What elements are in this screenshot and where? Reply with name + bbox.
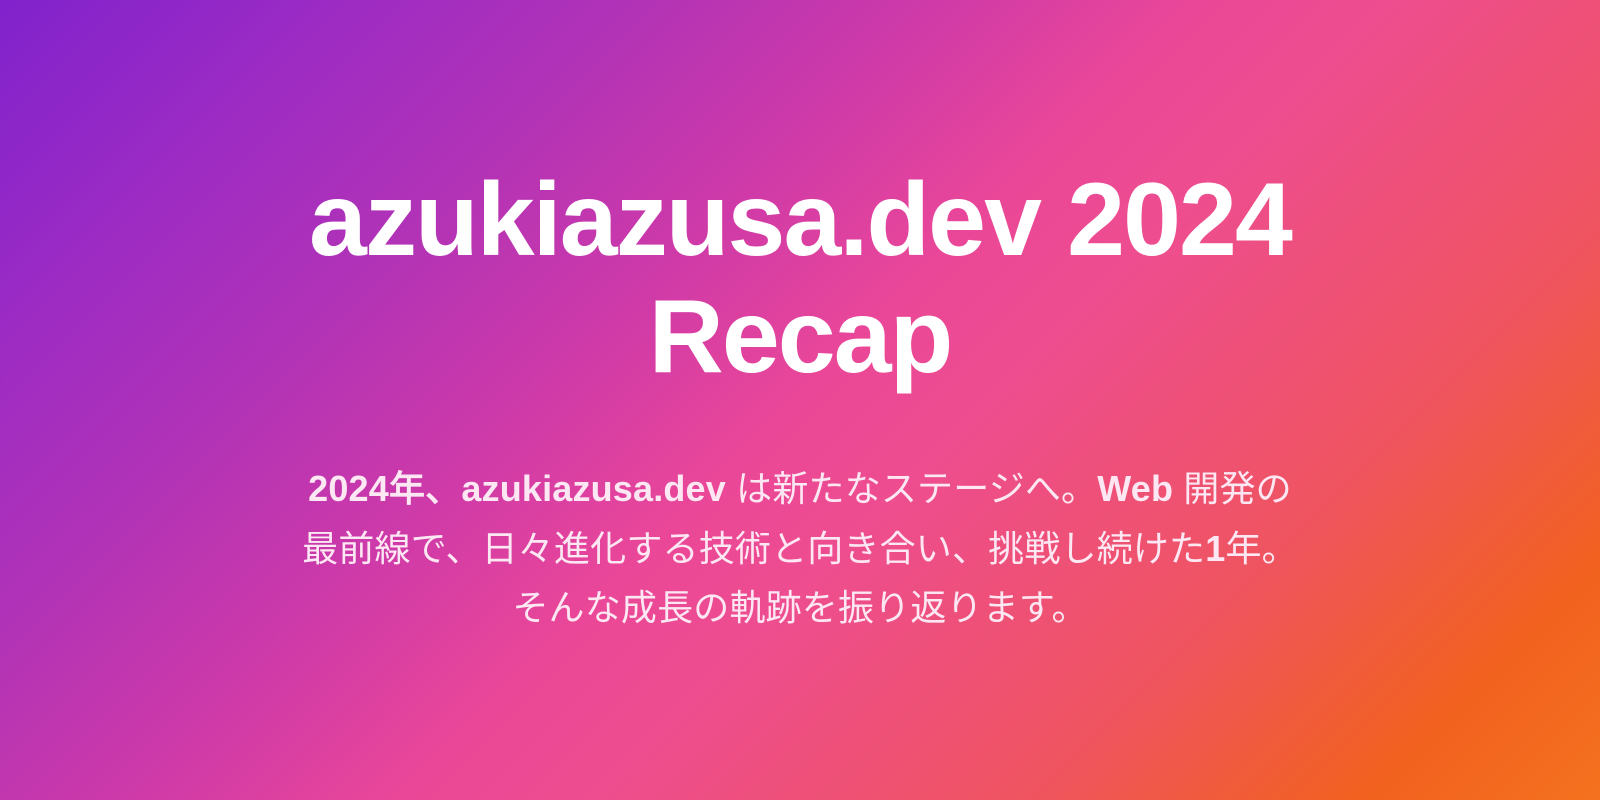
og-image-banner: azukiazusa.dev 2024Recap 2024年、azukiazus…: [0, 0, 1600, 800]
page-subtitle: 2024年、azukiazusa.dev は新たなステージへ。Web 開発の最前…: [300, 459, 1300, 637]
page-title-line-1: azukiazusa.dev 2024: [309, 162, 1291, 278]
subtitle-web-keyword: Web: [1097, 468, 1173, 509]
banner-content: azukiazusa.dev 2024Recap 2024年、azukiazus…: [180, 162, 1420, 637]
subtitle-year-segment: 2024年、: [308, 468, 461, 509]
subtitle-one-year-number: 1: [1205, 528, 1225, 569]
subtitle-site-name: azukiazusa.dev: [461, 468, 726, 509]
subtitle-text-part-1: は新たなステージへ。: [726, 468, 1097, 509]
page-title-line-2: Recap: [649, 279, 952, 395]
page-title: azukiazusa.dev 2024Recap: [309, 162, 1291, 395]
